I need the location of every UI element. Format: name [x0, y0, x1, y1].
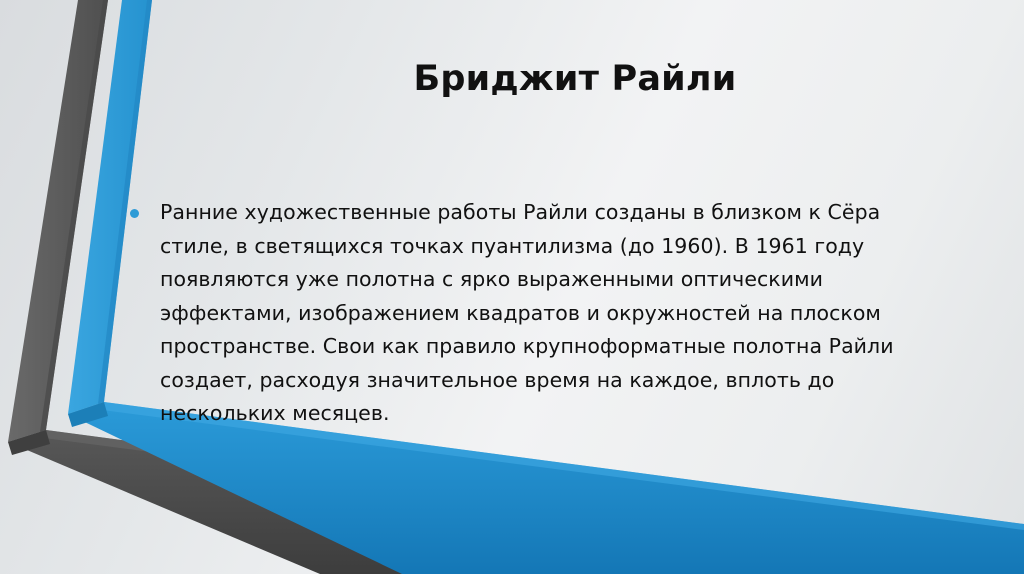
list-item: Ранние художественные работы Райли созда…	[124, 196, 954, 431]
bullet-dot-icon	[130, 209, 139, 218]
body-content: Ранние художественные работы Райли созда…	[124, 196, 954, 431]
gray-band-bottom	[8, 430, 1024, 574]
gray-band-vertical	[8, 0, 108, 442]
title-block: Бриджит Райли	[180, 58, 970, 100]
bullet-paragraph: Ранние художественные работы Райли созда…	[160, 200, 894, 425]
blue-band-corner	[68, 402, 108, 427]
gray-band-corner	[8, 430, 50, 455]
slide-canvas: Бриджит Райли Ранние художественные рабо…	[0, 0, 1024, 574]
page-title: Бриджит Райли	[180, 58, 970, 100]
